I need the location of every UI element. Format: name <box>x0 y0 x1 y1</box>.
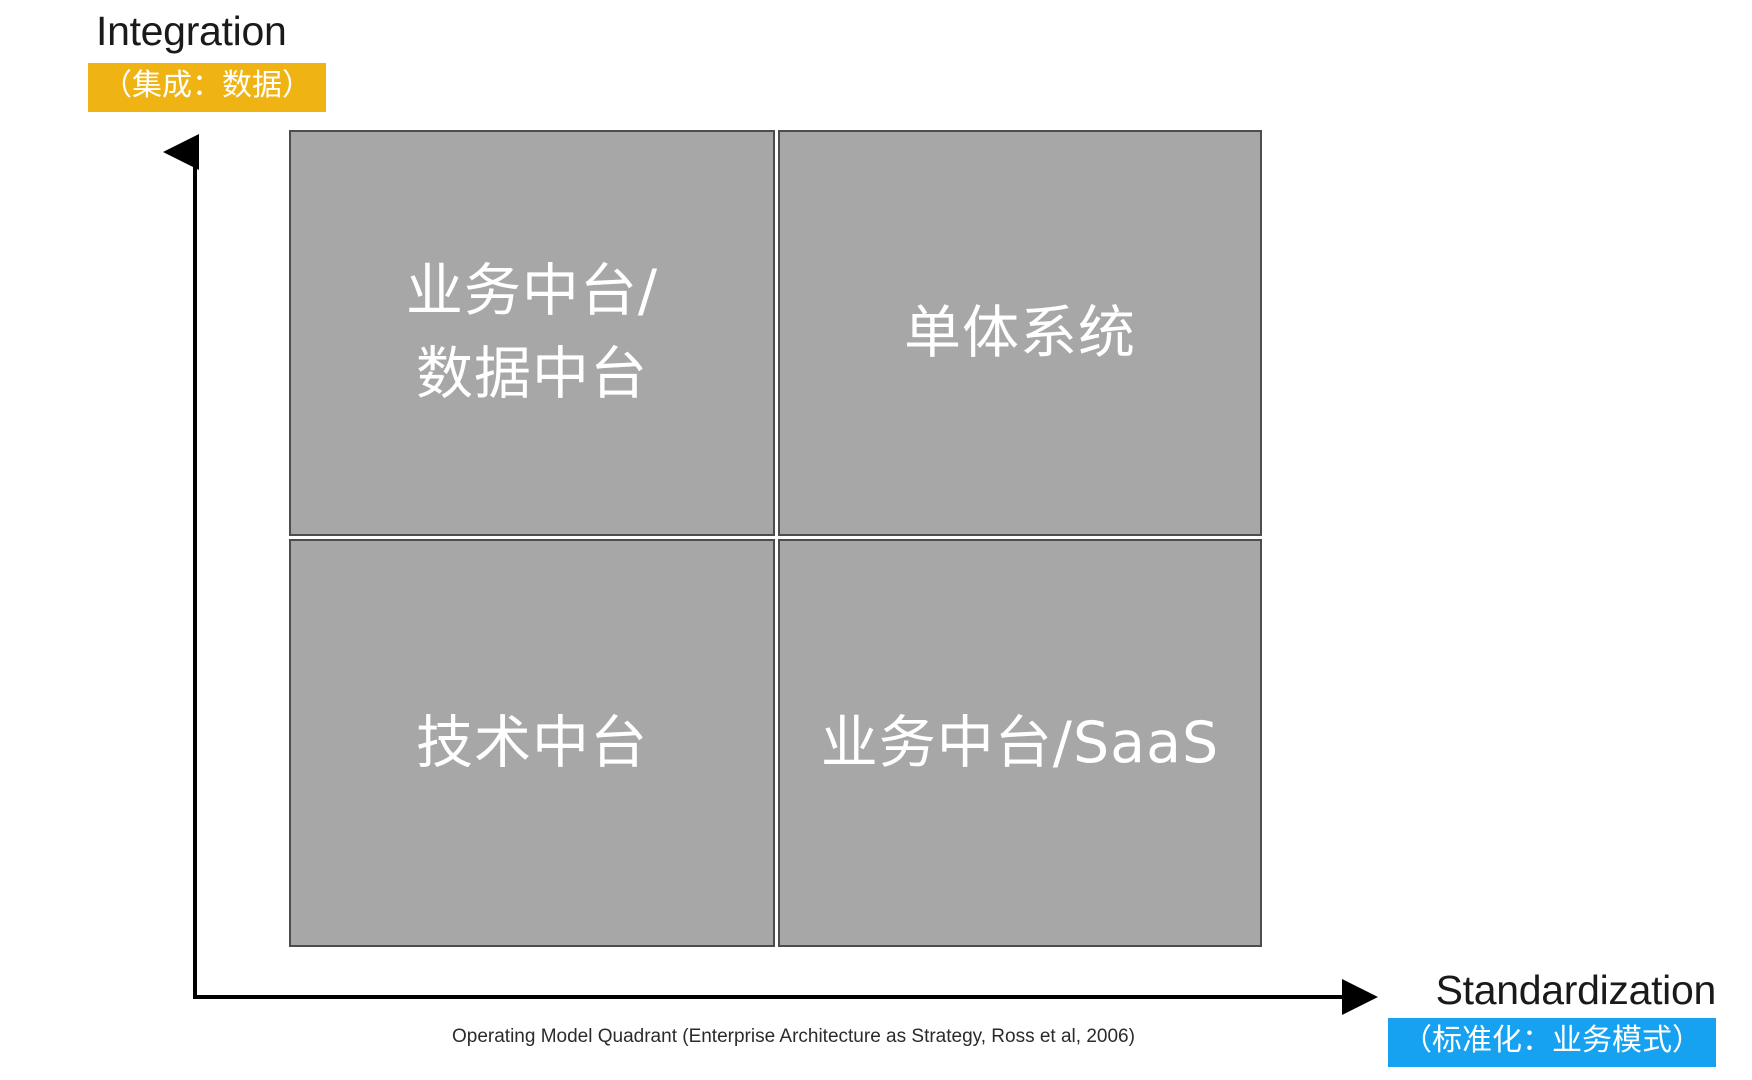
y-axis-badge: （集成：数据） <box>88 63 326 112</box>
x-axis-title: Standardization <box>1388 966 1716 1014</box>
slide-canvas: Integration （集成：数据） 业务中台/ 数据中台 单体系统 技术中台 <box>0 0 1752 1080</box>
quadrant-cell-bottom-left[interactable]: 技术中台 <box>289 539 775 947</box>
quadrant-label-top-right: 单体系统 <box>904 298 1136 368</box>
y-axis-label-group: Integration （集成：数据） <box>96 8 516 112</box>
quadrant-cell-bottom-right[interactable]: 业务中台/SaaS <box>778 539 1262 947</box>
x-axis-label-group: Standardization （标准化：业务模式） <box>1388 966 1716 1067</box>
x-axis-badge: （标准化：业务模式） <box>1388 1018 1716 1067</box>
y-axis-title: Integration <box>96 8 516 54</box>
quadrant-grid: 业务中台/ 数据中台 单体系统 技术中台 业务中台/SaaS <box>289 130 1265 950</box>
quadrant-cell-top-right[interactable]: 单体系统 <box>778 130 1262 536</box>
quadrant-label-bottom-right: 业务中台/SaaS <box>821 708 1219 778</box>
figure-caption: Operating Model Quadrant (Enterprise Arc… <box>452 1026 1135 1048</box>
quadrant-label-bottom-left: 技术中台 <box>416 708 648 778</box>
quadrant-cell-top-left[interactable]: 业务中台/ 数据中台 <box>289 130 775 536</box>
quadrant-label-top-left: 业务中台/ 数据中台 <box>406 250 658 416</box>
